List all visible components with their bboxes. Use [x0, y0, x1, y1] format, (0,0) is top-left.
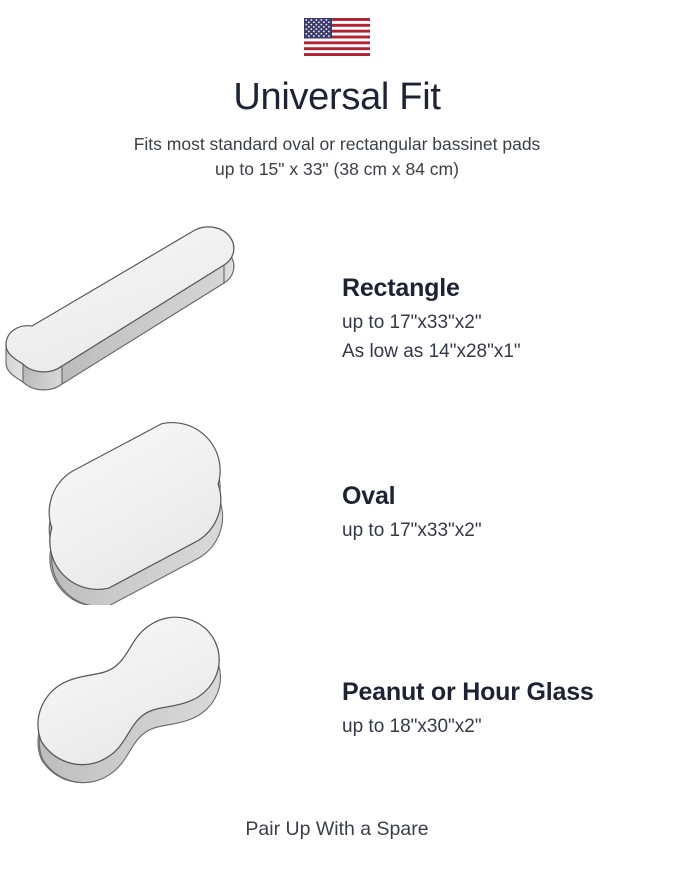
page-title: Universal Fit	[0, 78, 674, 118]
list-item: Peanut or Hour Glass up to 18"x30"x2"	[0, 603, 674, 799]
shape-list: Rectangle up to 17"x33"x2" As low as 14"…	[0, 207, 674, 799]
shape-spec: up to 17"x33"x2"	[342, 310, 674, 336]
shape-heading: Oval	[342, 482, 674, 511]
footer-tagline: Pair Up With a Spare	[0, 818, 674, 841]
list-item: Oval up to 17"x33"x2"	[0, 407, 674, 603]
header: Universal Fit Fits most standard oval or…	[0, 0, 674, 183]
rectangle-info: Rectangle up to 17"x33"x2" As low as 14"…	[340, 274, 674, 367]
shape-spec: As low as 14"x28"x1"	[342, 339, 674, 365]
oval-info: Oval up to 17"x33"x2"	[340, 482, 674, 546]
rectangle-pad-icon	[0, 211, 332, 407]
page-subtitle: Fits most standard oval or rectangular b…	[47, 132, 627, 183]
shape-heading: Rectangle	[342, 274, 674, 303]
shape-heading: Peanut or Hour Glass	[342, 678, 674, 707]
peanut-info: Peanut or Hour Glass up to 18"x30"x2"	[340, 678, 674, 742]
us-flag-icon	[304, 18, 370, 56]
shape-spec: up to 18"x30"x2"	[342, 714, 674, 740]
shape-spec: up to 17"x33"x2"	[342, 518, 674, 544]
subtitle-line-2: up to 15" x 33" (38 cm x 84 cm)	[47, 157, 627, 182]
list-item: Rectangle up to 17"x33"x2" As low as 14"…	[0, 207, 674, 407]
oval-pad-icon	[10, 409, 350, 605]
peanut-pad-icon	[8, 607, 348, 803]
subtitle-line-1: Fits most standard oval or rectangular b…	[47, 132, 627, 157]
universal-fit-infographic: Universal Fit Fits most standard oval or…	[0, 0, 674, 879]
